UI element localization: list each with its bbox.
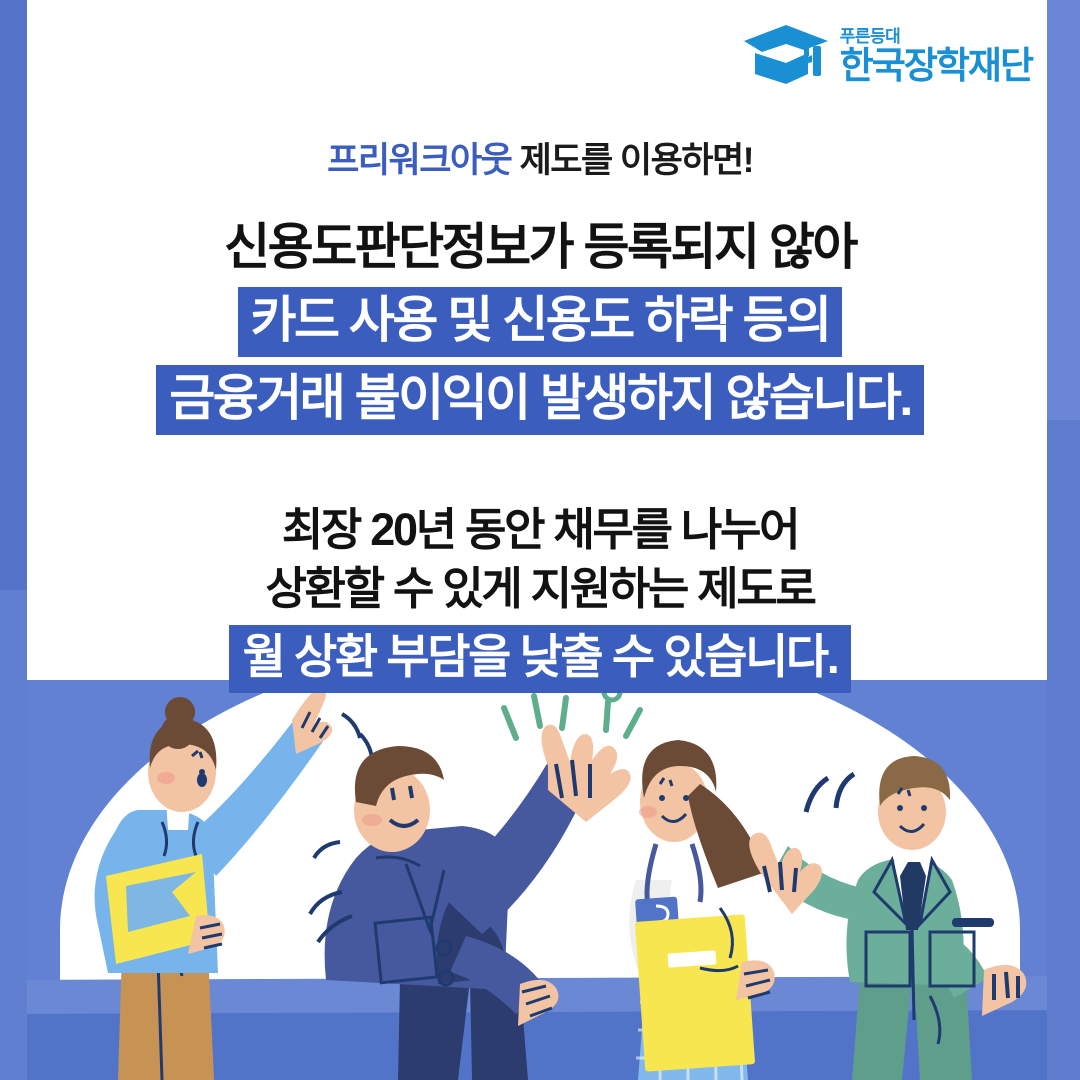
highlight-line-1: 카드 사용 및 신용도 하락 등의 [238,287,843,357]
kicker-rest-text: 제도를 이용하면! [511,141,753,180]
body-line-1: 최장 20년 동안 채무를 나누어 [0,501,1080,560]
logo-name: 한국장학재단 [840,47,1032,84]
graduation-cap-icon [742,22,832,84]
highlight-line-3: 월 상환 부담을 낮출 수 있습니다. [229,625,852,693]
copy-spacer [0,443,1080,501]
kicker-line: 프리워크아웃 제도를 이용하면! [0,140,1080,182]
poster-canvas: 푸른등대 한국장학재단 프리워크아웃 제도를 이용하면! 신용도판단정보가 등록… [0,0,1080,1080]
lead-line: 신용도판단정보가 등록되지 않아 [0,218,1080,277]
highlight-line-3-wrap: 월 상환 부담을 낮출 수 있습니다. [0,618,1080,693]
body-line-2: 상환할 수 있게 지원하는 제도로 [0,560,1080,619]
highlight-line-2: 금융거래 불이익이 발생하지 않습니다. [156,365,924,435]
logo-tagline: 푸른등대 [840,28,1032,45]
kicker-accent-text: 프리워크아웃 [327,141,511,180]
highlight-line-1-wrap: 카드 사용 및 신용도 하락 등의 [0,287,1080,357]
highlight-line-2-wrap: 금융거래 불이익이 발생하지 않습니다. [0,365,1080,435]
logo-wordmark: 푸른등대 한국장학재단 [840,28,1032,84]
copy-block: 프리워크아웃 제도를 이용하면! 신용도판단정보가 등록되지 않아 카드 사용 … [0,140,1080,701]
foundation-logo: 푸른등대 한국장학재단 [742,22,1032,84]
people-illustration [0,680,1080,1080]
